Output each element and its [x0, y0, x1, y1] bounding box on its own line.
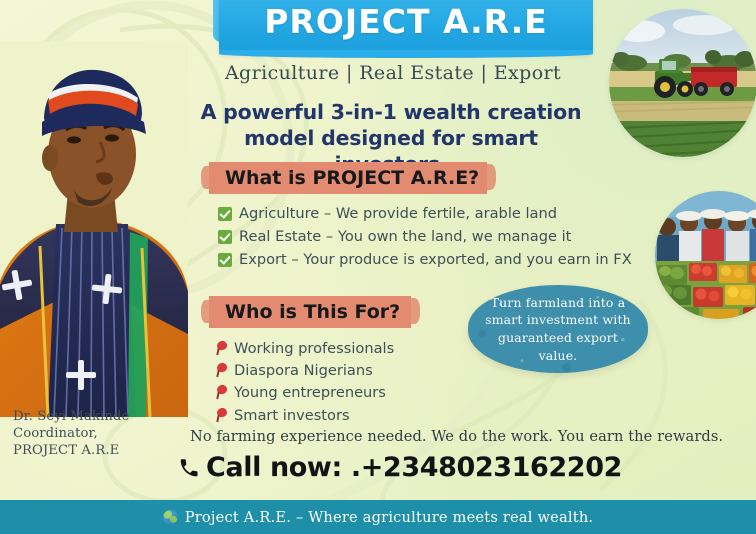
list-item: Diaspora Nigerians [216, 362, 476, 380]
list-item-label: Real Estate – You own the land, we manag… [239, 228, 571, 246]
list-item: Real Estate – You own the land, we manag… [218, 228, 638, 246]
globe-icon [163, 510, 178, 525]
caption-role: Coordinator, [13, 426, 129, 443]
tagline-bubble: Turn farmland into a smart investment wi… [468, 285, 648, 373]
produce-market-photo [655, 191, 756, 319]
telephone-icon [178, 457, 200, 479]
what-list: Agriculture – We provide fertile, arable… [218, 205, 638, 275]
green-check-icon [218, 230, 232, 244]
footer-bar: Project A.R.E. – Where agriculture meets… [0, 500, 756, 534]
list-item-label: Working professionals [234, 340, 394, 358]
caption-org: PROJECT A.R.E [13, 443, 129, 460]
list-item: Young entrepreneurs [216, 384, 476, 402]
red-pushpin-icon [216, 408, 229, 422]
list-item: Smart investors [216, 407, 476, 425]
list-item-label: Diaspora Nigerians [234, 362, 373, 380]
caption-name: Dr. Seyi Makinde [13, 409, 129, 426]
flyer-subtitle: Agriculture | Real Estate | Export [193, 62, 593, 84]
section-heading-who: Who is This For? [209, 296, 411, 328]
footer-tagline: Project A.R.E. – Where agriculture meets… [185, 509, 594, 526]
who-list: Working professionals Diaspora Nigerians… [216, 340, 476, 429]
list-item-label: Export – Your produce is exported, and y… [239, 251, 632, 269]
green-check-icon [218, 253, 232, 267]
red-pushpin-icon [216, 363, 229, 377]
list-item: Export – Your produce is exported, and y… [218, 251, 638, 269]
green-check-icon [218, 207, 232, 221]
section-heading-what: What is PROJECT A.R.E? [209, 162, 487, 194]
list-item-label: Young entrepreneurs [234, 384, 386, 402]
portrait-caption: Dr. Seyi Makinde Coordinator, PROJECT A.… [13, 409, 129, 460]
call-now-label: Call now: .+2348023162202 [206, 452, 622, 483]
red-pushpin-icon [216, 341, 229, 355]
call-now-cta[interactable]: Call now: .+2348023162202 [178, 452, 622, 483]
header-ribbon: PROJECT A.R.E [193, 0, 593, 62]
red-pushpin-icon [216, 385, 229, 399]
list-item: Agriculture – We provide fertile, arable… [218, 205, 638, 223]
flyer-title: PROJECT A.R.E [219, 2, 593, 41]
list-item-label: Smart investors [234, 407, 350, 425]
list-item: Working professionals [216, 340, 476, 358]
flyer-canvas: Dr. Seyi Makinde Coordinator, PROJECT A.… [0, 0, 756, 534]
bubble-text: Turn farmland into a smart investment wi… [478, 294, 638, 364]
closing-line: No farming experience needed. We do the … [190, 428, 750, 445]
list-item-label: Agriculture – We provide fertile, arable… [239, 205, 557, 223]
portrait-photo [0, 42, 188, 417]
farm-tractor-photo [609, 9, 756, 157]
